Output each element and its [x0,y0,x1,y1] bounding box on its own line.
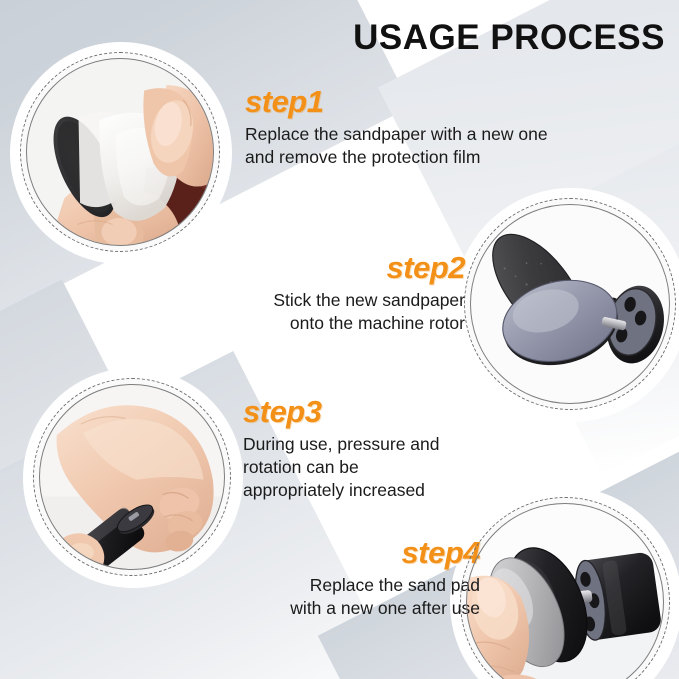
step-block-3: step3 During use, pressure and rotation … [243,396,503,502]
page-title: USAGE PROCESS [353,18,665,58]
step-photo-1 [20,52,220,252]
step-label-3: step3 [243,396,503,429]
step-description-2: Stick the new sandpaper onto the machine… [200,289,465,336]
step-description-1: Replace the sandpaper with a new one and… [245,123,620,170]
step-photo-3-image [40,385,224,569]
step-description-3: During use, pressure and rotation can be… [243,433,503,503]
step-label-2: step2 [200,252,465,285]
step-photo-4-image [467,504,663,679]
step-block-2: step2 Stick the new sandpaper onto the m… [200,252,465,335]
step-block-1: step1 Replace the sandpaper with a new o… [245,86,620,169]
step-label-4: step4 [215,537,480,570]
step-photo-3 [33,378,231,576]
step-photo-2 [464,198,676,410]
usage-process-infographic: USAGE PROCESS [0,0,679,679]
step-block-4: step4 Replace the sand pad with a new on… [215,537,480,620]
step-photo-4 [460,497,670,679]
step-label-1: step1 [245,86,620,119]
step-photo-1-image [27,59,213,245]
step-photo-2-image [471,205,669,403]
step-description-4: Replace the sand pad with a new one afte… [215,574,480,621]
